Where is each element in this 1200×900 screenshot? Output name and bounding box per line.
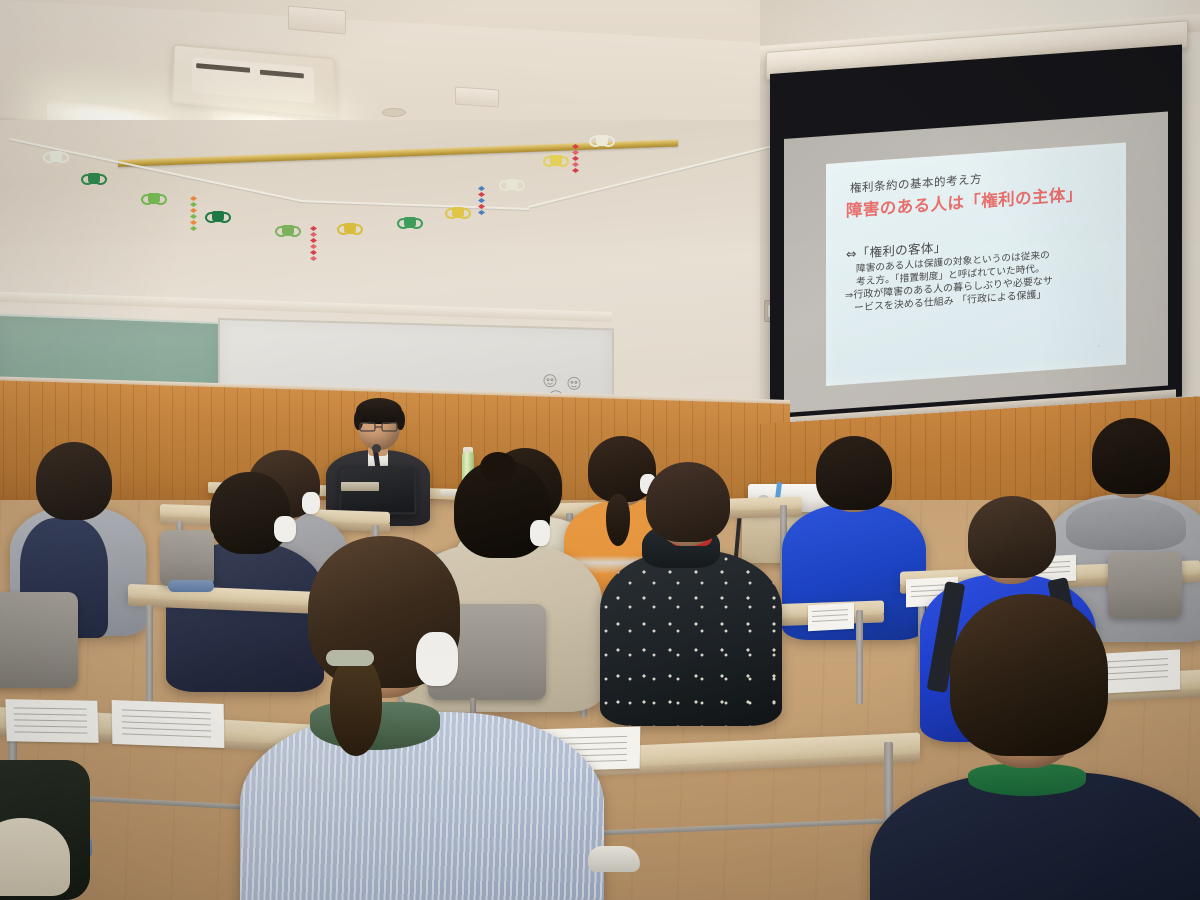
seminar-room-photo: 権利条約の基本的考え方 障害のある人は「権利の主体」 ⇔「権利の客体」 障害のあ… (0, 0, 1200, 900)
glasses-icon (357, 420, 401, 434)
ceiling-vent-panel (288, 5, 346, 34)
projection-screen: 権利条約の基本的考え方 障害のある人は「権利の主体」 ⇔「権利の客体」 障害のあ… (770, 44, 1182, 426)
smoke-detector (382, 108, 406, 117)
slide-page-marker: · (1098, 342, 1100, 350)
presentation-slide: 権利条約の基本的考え方 障害のある人は「権利の主体」 ⇔「権利の客体」 障害のあ… (826, 142, 1126, 386)
ceiling-access-panel (455, 86, 499, 107)
origami-kabuto (448, 204, 468, 219)
origami-garland (0, 120, 800, 290)
hair-tie (326, 650, 374, 666)
origami-kabuto (546, 152, 566, 167)
ponytail (330, 656, 382, 756)
chair[interactable] (0, 592, 78, 688)
chair-seat[interactable] (168, 580, 214, 592)
chair[interactable] (160, 530, 214, 586)
ponytail (606, 494, 630, 546)
origami-chain (190, 196, 197, 232)
face-mask (416, 632, 458, 686)
origami-chain (572, 144, 579, 174)
chair[interactable] (1108, 552, 1182, 618)
hoodie-hood (1066, 498, 1186, 550)
screen-surface: 権利条約の基本的考え方 障害のある人は「権利の主体」 ⇔「権利の客体」 障害のあ… (784, 111, 1168, 413)
laptop-name-badge (341, 482, 379, 491)
printed-handout (5, 699, 98, 743)
collar (968, 764, 1086, 796)
attendee-hair (36, 442, 112, 520)
attendee-hair (1092, 418, 1170, 494)
origami-kabuto (400, 214, 420, 229)
origami-chain (478, 186, 485, 216)
attendee-hair (646, 462, 730, 542)
microphone-head-icon (372, 444, 381, 453)
origami-kabuto (278, 222, 298, 237)
attendee-hair (968, 496, 1056, 578)
face-mask (302, 492, 320, 514)
face-mask (530, 520, 550, 546)
origami-kabuto (84, 170, 104, 185)
printed-handout (112, 700, 225, 748)
table-leg (146, 605, 153, 701)
origami-kabuto (502, 176, 522, 191)
garland-string (300, 200, 530, 210)
attendee-hair (950, 594, 1108, 756)
origami-chain (310, 226, 317, 262)
origami-kabuto (592, 132, 612, 147)
attendee-hair (210, 472, 290, 554)
origami-kabuto (340, 220, 360, 235)
hair-bun (480, 452, 516, 482)
shoe (588, 846, 640, 872)
origami-kabuto (144, 190, 164, 205)
attendee-black-dot-jacket (600, 550, 782, 726)
garland-string (528, 141, 790, 208)
origami-kabuto (46, 148, 66, 163)
origami-kabuto (208, 208, 228, 223)
table-leg (856, 610, 863, 704)
attendee-hair (816, 436, 892, 510)
face-mask (274, 516, 296, 542)
printed-handout (808, 603, 854, 631)
